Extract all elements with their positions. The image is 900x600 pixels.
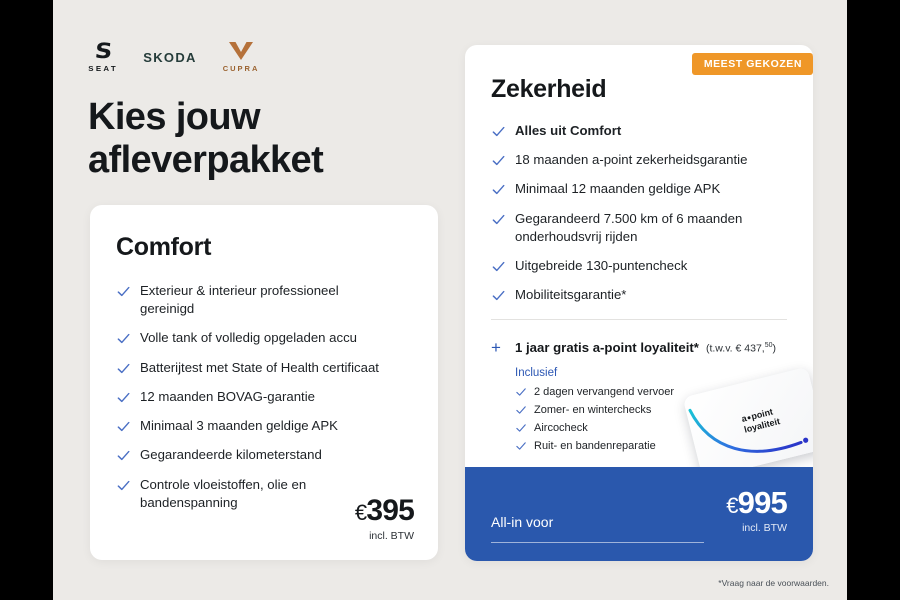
inclusief-label-text: Ruit- en bandenreparatie bbox=[534, 440, 656, 452]
seat-logo-mark: S bbox=[94, 41, 112, 62]
package-card-comfort[interactable]: Comfort Exterieur & interieur profession… bbox=[90, 205, 438, 560]
comfort-feature-list: Exterieur & interieur professioneel gere… bbox=[116, 282, 412, 512]
inclusief-label-text: Zomer- en winterchecks bbox=[534, 404, 651, 416]
skoda-logo-wordmark: SKODA bbox=[143, 50, 196, 65]
feature-label: Uitgebreide 130-puntencheck bbox=[515, 257, 687, 275]
check-icon bbox=[116, 478, 131, 493]
page-title-line1: Kies jouw bbox=[88, 96, 323, 139]
comfort-feature-item: Volle tank of volledig opgeladen accu bbox=[116, 329, 412, 347]
zekerheid-price-amount: 995 bbox=[738, 485, 787, 520]
loyalty-value-prefix: (t.w.v. € 437, bbox=[706, 343, 765, 355]
footnote: *Vraag naar de voorwaarden. bbox=[718, 578, 829, 588]
screenshot-root: S SEAT SKODA CUPRA Kies jouw afleverpakk… bbox=[0, 0, 900, 600]
feature-label: Gegarandeerde kilometerstand bbox=[140, 446, 322, 464]
check-icon bbox=[515, 440, 527, 452]
comfort-price-block: €395 incl. BTW bbox=[355, 496, 414, 542]
feature-label: Volle tank of volledig opgeladen accu bbox=[140, 329, 357, 347]
zekerheid-price-note: incl. BTW bbox=[726, 522, 787, 534]
zekerheid-price-block: €995 incl. BTW bbox=[726, 487, 787, 534]
zekerheid-price-currency: € bbox=[726, 493, 737, 518]
feature-label: Exterieur & interieur professioneel gere… bbox=[140, 282, 395, 318]
loyalty-title: 1 jaar gratis a-point loyaliteit* bbox=[515, 340, 699, 355]
check-icon bbox=[116, 284, 131, 299]
check-icon bbox=[116, 448, 131, 463]
zekerheid-feature-item: Mobiliteitsgarantie* bbox=[491, 286, 787, 304]
check-icon bbox=[515, 404, 527, 416]
feature-label: 12 maanden BOVAG-garantie bbox=[140, 388, 315, 406]
feature-label: 18 maanden a-point zekerheidsgarantie bbox=[515, 151, 747, 169]
comfort-feature-item: Exterieur & interieur professioneel gere… bbox=[116, 282, 412, 318]
page-title-line2: afleverpakket bbox=[88, 139, 323, 182]
comfort-feature-item: 12 maanden BOVAG-garantie bbox=[116, 388, 412, 406]
check-icon bbox=[491, 124, 506, 139]
feature-label: Minimaal 12 maanden geldige APK bbox=[515, 180, 720, 198]
cupra-triangle-icon bbox=[228, 41, 254, 61]
zekerheid-divider bbox=[491, 319, 787, 320]
comfort-price-currency: € bbox=[355, 500, 366, 525]
check-icon bbox=[515, 386, 527, 398]
feature-label: Gegarandeerd 7.500 km of 6 maanden onder… bbox=[515, 210, 785, 246]
feature-label: Minimaal 3 maanden geldige APK bbox=[140, 417, 338, 435]
skoda-logo: SKODA bbox=[143, 50, 196, 65]
check-icon bbox=[491, 212, 506, 227]
comfort-feature-item: Minimaal 3 maanden geldige APK bbox=[116, 417, 412, 435]
zekerheid-feature-item: Minimaal 12 maanden geldige APK bbox=[491, 180, 787, 198]
check-icon bbox=[491, 182, 506, 197]
comfort-feature-item: Gegarandeerde kilometerstand bbox=[116, 446, 412, 464]
comfort-price-amount: 395 bbox=[366, 494, 414, 527]
plus-icon: + bbox=[491, 339, 506, 356]
inclusief-label: Inclusief bbox=[515, 367, 787, 379]
zekerheid-footer: All-in voor €995 incl. BTW bbox=[465, 467, 813, 561]
zekerheid-feature-item: Uitgebreide 130-puntencheck bbox=[491, 257, 787, 275]
brand-logo-row: S SEAT SKODA CUPRA bbox=[89, 40, 259, 74]
package-card-zekerheid[interactable]: MEEST GEKOZEN Zekerheid Alles uit Comfor… bbox=[465, 45, 813, 561]
page-title: Kies jouw afleverpakket bbox=[88, 96, 323, 181]
most-chosen-badge: MEEST GEKOZEN bbox=[692, 53, 813, 75]
check-icon bbox=[491, 288, 506, 303]
feature-label: Mobiliteitsgarantie* bbox=[515, 286, 626, 304]
loyalty-value-suffix: ) bbox=[773, 343, 777, 355]
inclusief-label-text: Aircocheck bbox=[534, 422, 588, 434]
check-icon bbox=[116, 361, 131, 376]
check-icon bbox=[491, 153, 506, 168]
check-icon bbox=[116, 390, 131, 405]
loyalty-card-line1a: a bbox=[740, 413, 747, 424]
footer-rule bbox=[491, 542, 704, 543]
allin-label: All-in voor bbox=[491, 514, 553, 534]
comfort-feature-item: Batterijtest met State of Health certifi… bbox=[116, 359, 412, 377]
zekerheid-feature-list: Alles uit Comfort18 maanden a-point zeke… bbox=[491, 122, 787, 305]
comfort-price: €395 bbox=[355, 496, 414, 526]
comfort-price-note: incl. BTW bbox=[355, 530, 414, 542]
inclusief-label-text: 2 dagen vervangend vervoer bbox=[534, 386, 674, 398]
loyalty-headline-row: + 1 jaar gratis a-point loyaliteit* (t.w… bbox=[491, 338, 787, 355]
seat-logo-wordmark: SEAT bbox=[88, 64, 118, 73]
zekerheid-title: Zekerheid bbox=[491, 75, 787, 104]
page-canvas: S SEAT SKODA CUPRA Kies jouw afleverpakk… bbox=[53, 0, 847, 600]
check-icon bbox=[116, 331, 131, 346]
feature-label: Batterijtest met State of Health certifi… bbox=[140, 359, 379, 377]
check-icon bbox=[116, 419, 131, 434]
feature-label: Alles uit Comfort bbox=[515, 122, 621, 140]
check-icon bbox=[491, 259, 506, 274]
comfort-title: Comfort bbox=[116, 233, 412, 262]
zekerheid-feature-item: Gegarandeerd 7.500 km of 6 maanden onder… bbox=[491, 210, 787, 246]
loyalty-value: (t.w.v. € 437,50) bbox=[706, 342, 776, 355]
check-icon bbox=[515, 422, 527, 434]
seat-logo: S SEAT bbox=[89, 41, 117, 73]
zekerheid-price: €995 bbox=[726, 487, 787, 518]
zekerheid-feature-item: Alles uit Comfort bbox=[491, 122, 787, 140]
zekerheid-body: MEEST GEKOZEN Zekerheid Alles uit Comfor… bbox=[465, 45, 813, 467]
zekerheid-feature-item: 18 maanden a-point zekerheidsgarantie bbox=[491, 151, 787, 169]
loyalty-value-cents: 50 bbox=[765, 342, 773, 349]
cupra-logo: CUPRA bbox=[223, 41, 260, 73]
cupra-logo-wordmark: CUPRA bbox=[223, 64, 260, 73]
